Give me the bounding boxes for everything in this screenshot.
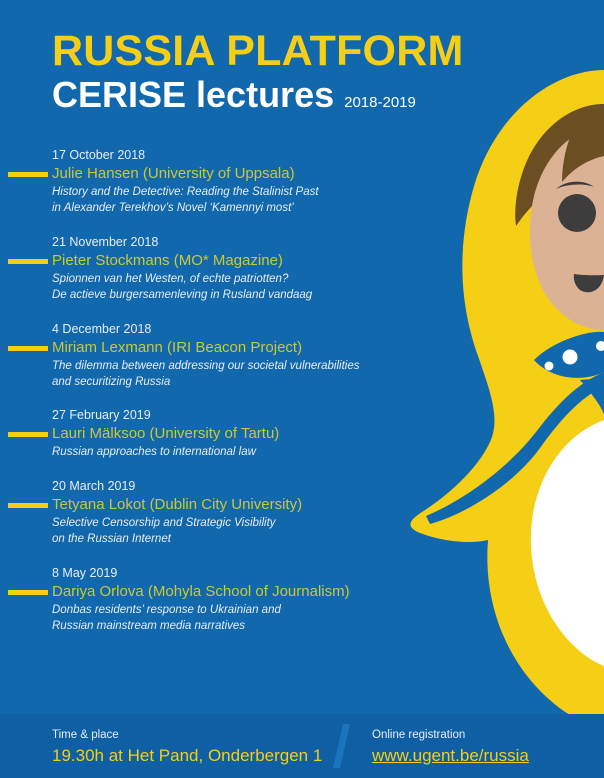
time-place-label: Time & place xyxy=(52,727,322,744)
lecture-speaker-row: Lauri Mälksoo (University of Tartu) xyxy=(0,424,400,444)
lecture-speaker: Lauri Mälksoo (University of Tartu) xyxy=(52,424,400,444)
doll-leaf-dot xyxy=(563,350,578,365)
time-place-block: Time & place 19.30h at Het Pand, Onderbe… xyxy=(52,727,322,767)
lecture-speaker-row: Pieter Stockmans (MO* Magazine) xyxy=(0,251,400,271)
lecture-speaker-row: Dariya Orlova (Mohyla School of Journali… xyxy=(0,582,400,602)
doll-eyebrow xyxy=(556,182,594,189)
doll-leaf-dot xyxy=(596,341,604,351)
dash-icon xyxy=(8,503,48,508)
lecture-speaker: Pieter Stockmans (MO* Magazine) xyxy=(52,251,400,271)
slash-divider-icon xyxy=(333,724,350,768)
doll-leaf-dot xyxy=(545,362,554,371)
lecture-item: 8 May 2019 Dariya Orlova (Mohyla School … xyxy=(0,564,400,635)
poster-header: RUSSIA PLATFORM CERISE lectures 2018-201… xyxy=(52,30,463,114)
lecture-item: 27 February 2019 Lauri Mälksoo (Universi… xyxy=(0,406,400,460)
doll-face xyxy=(530,126,604,330)
lecture-speaker: Julie Hansen (University of Uppsala) xyxy=(52,164,400,184)
doll-mouth xyxy=(574,274,604,292)
registration-link[interactable]: www.ugent.be/russia xyxy=(372,745,529,767)
lecture-date: 8 May 2019 xyxy=(52,564,400,582)
lecture-speaker: Tetyana Lokot (Dublin City University) xyxy=(52,495,400,515)
lecture-topic-line-1: The dilemma between addressing our socie… xyxy=(52,358,400,374)
doll-body-shape xyxy=(410,70,604,714)
doll-leaf-upper xyxy=(534,332,604,378)
page-subtitle: CERISE lectures xyxy=(52,76,334,114)
page-title: RUSSIA PLATFORM xyxy=(52,30,463,74)
lecture-date: 17 October 2018 xyxy=(52,146,400,164)
poster-footer: Time & place 19.30h at Het Pand, Onderbe… xyxy=(0,714,604,778)
lecture-item: 4 December 2018 Miriam Lexmann (IRI Beac… xyxy=(0,320,400,391)
lecture-date: 21 November 2018 xyxy=(52,233,400,251)
lecture-topic-line-2: and securitizing Russia xyxy=(52,374,400,390)
lecture-topic-line-2: Russian mainstream media narratives xyxy=(52,618,400,634)
lecture-list: 17 October 2018 Julie Hansen (University… xyxy=(0,146,400,650)
academic-years: 2018-2019 xyxy=(344,94,416,111)
doll-hair-fringe xyxy=(562,104,604,182)
lecture-speaker: Dariya Orlova (Mohyla School of Journali… xyxy=(52,582,400,602)
lecture-item: 17 October 2018 Julie Hansen (University… xyxy=(0,146,400,217)
lecture-speaker-row: Julie Hansen (University of Uppsala) xyxy=(0,164,400,184)
doll-eye xyxy=(558,194,596,232)
dash-icon xyxy=(8,172,48,177)
time-place-value: 19.30h at Het Pand, Onderbergen 1 xyxy=(52,745,322,767)
poster: RUSSIA PLATFORM CERISE lectures 2018-201… xyxy=(0,0,604,778)
lecture-topic-line-2: on the Russian Internet xyxy=(52,531,400,547)
lecture-date: 4 December 2018 xyxy=(52,320,400,338)
lecture-date: 20 March 2019 xyxy=(52,477,400,495)
lecture-speaker-row: Miriam Lexmann (IRI Beacon Project) xyxy=(0,338,400,358)
registration-block: Online registration www.ugent.be/russia xyxy=(372,727,529,767)
lecture-topic-line-2: in Alexander Terekhov’s Novel ‘Kamennyi … xyxy=(52,200,400,216)
lecture-item: 20 March 2019 Tetyana Lokot (Dublin City… xyxy=(0,477,400,548)
lecture-topic-line-1: Selective Censorship and Strategic Visib… xyxy=(52,515,400,531)
lecture-topic-line-1: History and the Detective: Reading the S… xyxy=(52,184,400,200)
lecture-speaker: Miriam Lexmann (IRI Beacon Project) xyxy=(52,338,400,358)
lecture-date: 27 February 2019 xyxy=(52,406,400,424)
lecture-topic-line-1: Donbas residents’ response to Ukrainian … xyxy=(52,602,400,618)
lecture-topic-line-1: Russian approaches to international law xyxy=(52,444,400,460)
lecture-topic-line-1: Spionnen van het Westen, of echte patrio… xyxy=(52,271,400,287)
doll-hair xyxy=(515,104,604,226)
dash-icon xyxy=(8,259,48,264)
doll-apron xyxy=(531,420,604,666)
lecture-item: 21 November 2018 Pieter Stockmans (MO* M… xyxy=(0,233,400,304)
doll-leaf-lower xyxy=(580,378,604,414)
subtitle-row: CERISE lectures 2018-2019 xyxy=(52,76,463,114)
lecture-topic-line-2: De actieve burgersamenleving in Rusland … xyxy=(52,287,400,303)
dash-icon xyxy=(8,590,48,595)
lecture-speaker-row: Tetyana Lokot (Dublin City University) xyxy=(0,495,400,515)
dash-icon xyxy=(8,346,48,351)
dash-icon xyxy=(8,432,48,437)
doll-scarf-crease xyxy=(426,372,604,524)
registration-label: Online registration xyxy=(372,727,529,744)
